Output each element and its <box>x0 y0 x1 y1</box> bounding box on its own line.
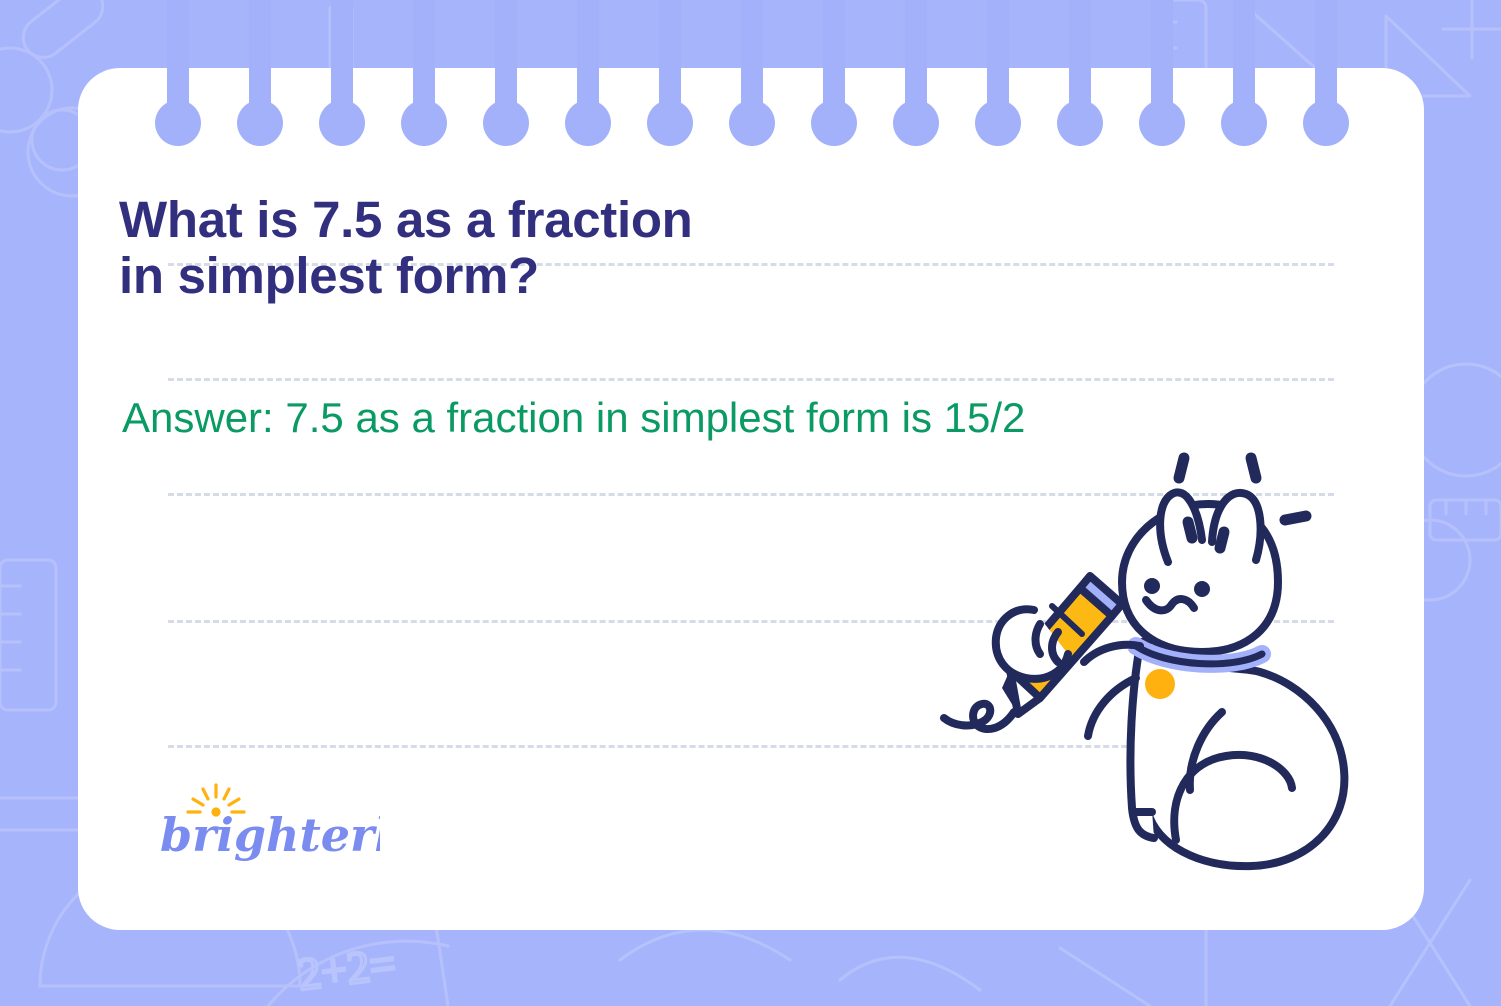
scribble-line <box>944 704 1014 729</box>
answer-text: Answer: 7.5 as a fraction in simplest fo… <box>122 392 1392 444</box>
collar-tag <box>1145 669 1175 699</box>
mascot-cat-with-pencil <box>940 440 1380 880</box>
question-title: What is 7.5 as a fraction in simplest fo… <box>119 192 1019 304</box>
brighterly-logo: brighterly <box>160 783 380 863</box>
logo-wordmark: brighterly <box>160 808 380 862</box>
poster-canvas: 2+2= What is 7.5 as a fraction in simple… <box>0 0 1501 1006</box>
eye-left <box>1144 578 1160 594</box>
eye-right <box>1194 581 1210 597</box>
rule-line <box>168 378 1334 381</box>
background-equation: 2+2= <box>295 937 398 1000</box>
